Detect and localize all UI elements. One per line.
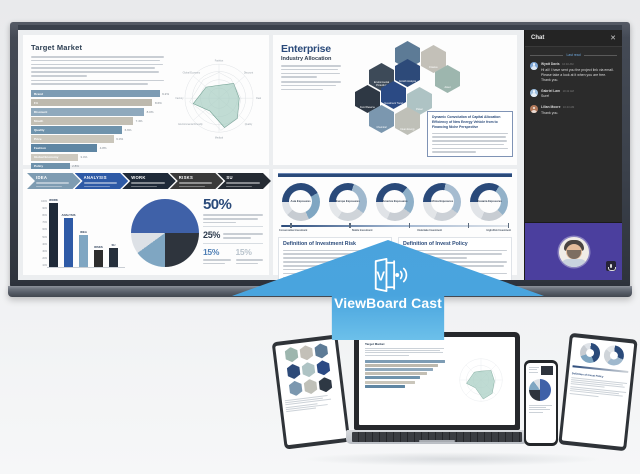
stat-value-15-a: 15% — [203, 247, 231, 257]
process-pie-chart — [131, 199, 199, 267]
laptop-bar — [365, 385, 405, 388]
exposure-donut[interactable]: America Exposures — [376, 183, 414, 221]
last-read-divider: Last read — [530, 53, 617, 57]
bar-value: 7.4% — [136, 119, 143, 123]
bar-value: 6.6% — [125, 128, 132, 132]
svg-text:Discount: Discount — [244, 71, 254, 74]
column-bar: IDEA — [79, 235, 88, 267]
bar-value: 2.8% — [72, 164, 79, 168]
y-tick: 80% — [42, 215, 47, 217]
risk-scale-label: Undertake Investment — [417, 229, 442, 232]
process-step[interactable]: ANALYSIS — [75, 173, 129, 189]
target-market-bar: Fit8.6% — [31, 99, 169, 107]
column-chart-y-axis: 100%90%80%70%60%50%40%30%20%10% — [33, 201, 47, 267]
exposure-donut-label: Asia Exposures — [291, 200, 311, 203]
laptop-bar — [365, 368, 433, 371]
definition-policy-title: Definition of Invest Policy — [403, 241, 507, 247]
laptop-bar — [365, 360, 445, 363]
exposure-donut-label: America Exposures — [382, 200, 407, 203]
risk-scale-label: Conservative Investment — [279, 229, 307, 232]
card-target-market[interactable]: Target Market Brand9.2%Fit8.6%Discount8.… — [23, 35, 269, 165]
hex-label: Chemical — [370, 127, 393, 133]
target-market-bar: Global Economy3.4% — [31, 154, 169, 162]
hex-label: Clean Energy — [396, 129, 419, 135]
display-screen: Target Market Brand9.2%Fit8.6%Discount8.… — [18, 30, 622, 280]
process-step[interactable]: WORK — [122, 173, 176, 189]
column-bar-label: IDEA — [80, 230, 87, 234]
bar-value: 3.4% — [80, 155, 87, 159]
svg-text:Environmental Friendly: Environmental Friendly — [178, 123, 203, 126]
process-step-desc — [84, 180, 117, 188]
bar-label: Fashion — [34, 146, 46, 150]
bar-label: Policy — [34, 164, 43, 168]
enterprise-paragraph — [281, 65, 341, 90]
column-bar-label: SU — [112, 243, 116, 247]
process-step-desc — [226, 180, 259, 188]
exposure-donut-label: Africa Exposures — [431, 200, 453, 203]
chat-message-time: 10:40 AM — [562, 63, 573, 66]
bar-label: Quality — [34, 128, 45, 132]
target-market-bar-chart: Brand9.2%Fit8.6%Discount8.0%Mouth7.4%Qua… — [31, 90, 169, 179]
svg-text:Factory: Factory — [175, 97, 184, 100]
process-step[interactable]: SU — [217, 173, 271, 189]
y-tick: 40% — [42, 244, 47, 246]
definition-cards: Definition of Investment Risk Definition… — [278, 237, 512, 281]
avatar — [530, 105, 538, 113]
process-step-desc — [179, 180, 212, 188]
y-tick: 30% — [42, 251, 47, 253]
y-tick: 50% — [42, 237, 47, 239]
target-market-paragraph — [31, 56, 164, 85]
exposures-top-rule — [278, 173, 512, 177]
last-read-label: Last read — [566, 53, 580, 57]
bar-value: 9.2% — [162, 92, 169, 96]
chat-header: Chat ✕ — [525, 30, 622, 47]
cast-label: ViewBoard Cast — [232, 295, 544, 311]
column-bar-label: RISKS — [94, 245, 103, 249]
close-icon[interactable]: ✕ — [610, 35, 616, 42]
device-lineup: Target Market — [272, 332, 640, 474]
risk-scale-label: Stable Investment — [352, 229, 372, 232]
exposure-donut[interactable]: Oceania Exposures — [470, 183, 508, 221]
target-market-bar: Mouth7.4% — [31, 117, 169, 125]
target-market-bar: Fashion4.8% — [31, 144, 169, 152]
exposure-donut[interactable]: Asia Exposures — [282, 183, 320, 221]
chat-message-text: Thank you. — [541, 111, 617, 116]
column-chart-bars: WORKANALYSISIDEARISKSSU — [49, 201, 123, 267]
chat-message-sender: Wyatt Davis — [541, 62, 560, 66]
target-market-bar: Discount8.0% — [31, 108, 169, 116]
avatar — [530, 89, 538, 97]
target-market-bar: Quality6.6% — [31, 126, 169, 134]
chat-message-time: 10:43 AM — [563, 106, 574, 109]
exposures-donuts: Asia ExposuresEurope ExposuresAmerica Ex… — [273, 183, 517, 221]
chat-message-sender: Gabriel Lam — [541, 89, 560, 93]
bar-value: 8.6% — [155, 101, 162, 105]
target-market-bar: Brand9.2% — [31, 90, 169, 98]
bar-label: Brand — [34, 92, 43, 96]
chat-message: Lilian Moore10:43 AMThank you. — [530, 105, 617, 116]
risk-scale — [281, 225, 509, 227]
chat-message-time: 10:42 AM — [563, 90, 574, 93]
stat-value-25: 25% — [203, 230, 220, 240]
chat-message-text: Sure! — [541, 94, 617, 99]
exposure-donut-label: Oceania Exposures — [477, 200, 502, 203]
bar-label: Price — [34, 137, 42, 141]
stat-value-15-b: 15% — [236, 247, 264, 257]
card-enterprise[interactable]: Enterprise Industry Allocation TimeFinan… — [273, 35, 517, 165]
column-bar: RISKS — [94, 250, 103, 267]
y-tick: 20% — [42, 258, 47, 260]
process-step[interactable]: IDEA — [27, 173, 81, 189]
y-tick: 90% — [42, 208, 47, 210]
process-stats: 50% 25% 15% — [203, 197, 263, 264]
viewboard-display: Target Market Brand9.2%Fit8.6%Discount8.… — [10, 22, 630, 288]
svg-text:Fashion: Fashion — [215, 59, 224, 62]
bar-label: Fit — [34, 101, 38, 105]
svg-text:Medical: Medical — [215, 137, 224, 140]
process-step-desc — [36, 180, 69, 188]
process-step[interactable]: RISKS — [170, 173, 224, 189]
process-step-desc — [131, 180, 164, 188]
laptop-bar — [365, 364, 438, 367]
bar-label: Mouth — [34, 119, 43, 123]
microphone-icon[interactable] — [606, 261, 616, 271]
enterprise-callout-title: Dynamic Convolution of Capital Allocatio… — [432, 115, 508, 130]
bar-value: 6.0% — [116, 137, 123, 141]
process-chevrons: IDEAANALYSISWORKRISKSSU — [27, 173, 265, 189]
exposure-donut[interactable]: Africa Exposures — [423, 183, 461, 221]
enterprise-callout: Dynamic Convolution of Capital Allocatio… — [427, 111, 513, 157]
bar-value: 8.0% — [147, 110, 154, 114]
svg-text:Quality: Quality — [245, 123, 253, 126]
target-market-bar: Price6.0% — [31, 135, 169, 143]
device-tablet-right[interactable]: Definition of Invest Policy — [558, 333, 637, 451]
bar-label: Discount — [34, 110, 47, 114]
column-bar: SU — [109, 248, 118, 267]
laptop-bar — [365, 376, 420, 379]
device-tablet-left[interactable] — [272, 334, 351, 449]
laptop-bar — [365, 372, 427, 375]
y-tick: 100% — [41, 201, 47, 203]
display-bezel: Target Market Brand9.2%Fit8.6%Discount8.… — [10, 22, 630, 288]
definition-card-risk[interactable]: Definition of Investment Risk — [278, 237, 392, 281]
chat-panel[interactable]: Chat ✕ Last read Wyatt Davis10:40 AMHi a… — [524, 30, 622, 280]
chat-message-sender: Lilian Moore — [541, 105, 560, 109]
y-tick: 70% — [42, 222, 47, 224]
column-bar: ANALYSIS — [64, 218, 73, 267]
device-laptop[interactable]: Target Market — [354, 332, 520, 460]
target-market-radar-chart: FashionDiscount DealQuality MedicalEnvir… — [173, 51, 265, 149]
avatar — [530, 62, 538, 70]
risk-scale-labels: Conservative InvestmentStable Investment… — [279, 229, 511, 232]
column-bar: WORK — [49, 203, 58, 267]
chat-message-list[interactable]: Last read Wyatt Davis10:40 AMHi all! I h… — [525, 47, 622, 222]
avatar — [559, 237, 589, 267]
presentation-canvas[interactable]: Target Market Brand9.2%Fit8.6%Discount8.… — [18, 30, 524, 280]
definition-card-policy[interactable]: Definition of Invest Policy — [398, 237, 512, 281]
card-process-analysis[interactable]: IDEAANALYSISWORKRISKSSU 100%90%80%70%60%… — [23, 169, 269, 275]
chat-message: Gabriel Lam10:42 AMSure! — [530, 89, 617, 100]
column-bar-label: WORK — [49, 198, 58, 202]
video-tile[interactable] — [525, 222, 622, 280]
chat-message: Wyatt Davis10:40 AMHi all! I have sent y… — [530, 62, 617, 83]
device-phone[interactable] — [524, 360, 558, 446]
definition-risk-title: Definition of Investment Risk — [283, 241, 387, 247]
bar-label: Global Economy — [34, 155, 58, 159]
card-exposures[interactable]: Asia ExposuresEurope ExposuresAmerica Ex… — [273, 169, 517, 275]
svg-text:Global Economy: Global Economy — [183, 71, 201, 74]
exposure-donut-label: Europe Exposures — [336, 200, 360, 203]
chat-title: Chat — [531, 35, 544, 41]
chat-message-text: Hi all! I have sent you the project link… — [541, 68, 617, 83]
svg-text:Deal: Deal — [256, 97, 261, 100]
hex-label: Asset — [436, 87, 459, 93]
column-bar-label: ANALYSIS — [62, 213, 76, 217]
laptop-bar — [365, 381, 415, 384]
y-tick: 60% — [42, 229, 47, 231]
bar-value: 4.8% — [100, 146, 107, 150]
risk-scale-label: High-Risk Investment — [487, 229, 511, 232]
laptop-slide-title: Target Market — [365, 342, 509, 346]
stat-value-50: 50% — [203, 197, 263, 212]
exposure-donut[interactable]: Europe Exposures — [329, 183, 367, 221]
process-column-chart: 100%90%80%70%60%50%40%30%20%10% WORKANAL… — [33, 197, 125, 269]
